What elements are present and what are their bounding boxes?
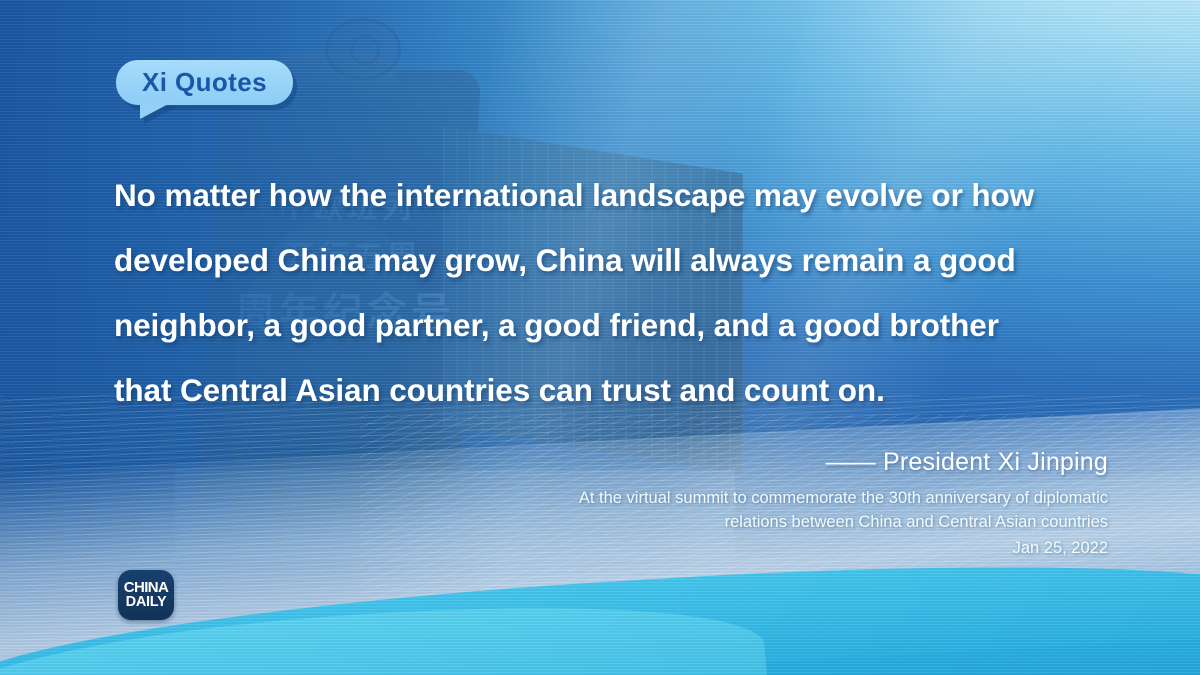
quote-line: No matter how the international landscap… (114, 163, 1104, 228)
quote-poster: 中欧班列 开行五周 周年纪念号 Xi Quotes No matter how … (0, 0, 1200, 675)
quote-line: developed China may grow, China will alw… (114, 228, 1104, 293)
quote-occasion: At the virtual summit to commemorate the… (408, 486, 1108, 534)
quote-speaker: —— President Xi Jinping (408, 448, 1108, 477)
quote-line: neighbor, a good partner, a good friend,… (114, 293, 1104, 358)
logo-line-china: CHINA (124, 580, 169, 595)
logo-line-daily: DAILY (126, 595, 167, 610)
xi-quotes-badge: Xi Quotes (116, 60, 293, 105)
badge-tail (140, 101, 174, 119)
badge-label: Xi Quotes (142, 69, 267, 95)
poster-content: Xi Quotes No matter how the internationa… (0, 0, 1200, 675)
quote-block: No matter how the international landscap… (114, 163, 1104, 423)
quote-occasion-line: relations between China and Central Asia… (408, 510, 1108, 534)
attribution-block: —— President Xi Jinping At the virtual s… (408, 448, 1108, 560)
china-daily-logo: CHINA DAILY (118, 570, 174, 620)
badge-pill: Xi Quotes (116, 60, 293, 105)
quote-occasion-line: At the virtual summit to commemorate the… (408, 486, 1108, 510)
quote-date: Jan 25, 2022 (408, 536, 1108, 560)
quote-line: that Central Asian countries can trust a… (114, 358, 1104, 423)
